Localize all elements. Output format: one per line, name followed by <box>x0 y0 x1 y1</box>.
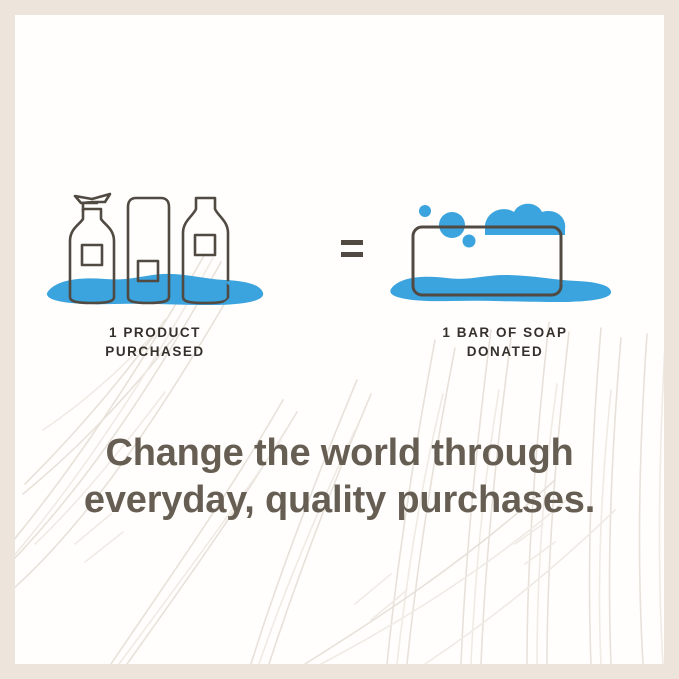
equals-sign-icon <box>341 240 363 262</box>
page-title: Change the world through everyday, quali… <box>15 430 664 524</box>
equation-row: 1 PRODUCT PURCHASED <box>15 185 664 385</box>
soap-donated-caption: 1 BAR OF SOAP DONATED <box>385 323 625 361</box>
product-purchased-caption: 1 PRODUCT PURCHASED <box>35 323 275 361</box>
graphic-canvas: 1 PRODUCT PURCHASED <box>0 0 679 679</box>
bar-of-soap-with-bubbles-icon <box>385 185 625 310</box>
product-purchased-block: 1 PRODUCT PURCHASED <box>35 185 275 361</box>
three-bottles-in-puddle-icon <box>35 185 275 310</box>
inner-card: 1 PRODUCT PURCHASED <box>15 15 664 664</box>
equals-bar-bottom <box>341 252 363 257</box>
equals-bar-top <box>341 240 363 245</box>
soap-donated-block: 1 BAR OF SOAP DONATED <box>385 185 625 361</box>
